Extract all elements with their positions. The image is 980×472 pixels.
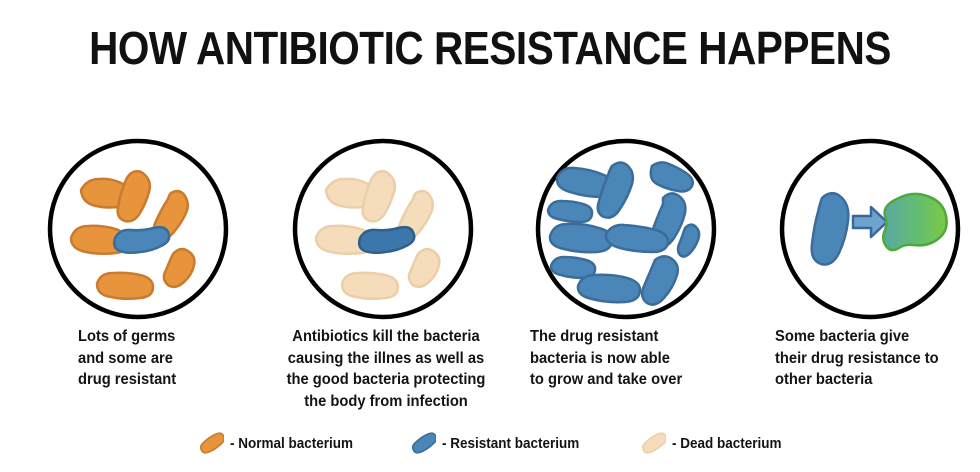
panel-2-caption: Antibiotics kill the bacteria causing th… (278, 326, 495, 412)
legend-item-normal: - Normal bacterium (198, 430, 367, 458)
panel-4-caption: Some bacteria give their drug resistance… (775, 326, 971, 391)
resistant-bacterium-icon (550, 224, 612, 252)
panel-row (0, 136, 980, 326)
panel-1-caption: Lots of germs and some are drug resistan… (78, 326, 268, 391)
resistant-bacterium-icon (410, 432, 436, 456)
panel-3-caption: The drug resistant bacteria is now able … (530, 326, 716, 391)
legend-item-dead: - Dead bacterium (640, 430, 794, 458)
dead-bacterium-icon (640, 432, 666, 456)
legend-item-resistant: - Resistant bacterium (410, 430, 595, 458)
infographic-root: HOW ANTIBIOTIC RESISTANCE HAPPENS (0, 0, 980, 472)
page-title: HOW ANTIBIOTIC RESISTANCE HAPPENS (59, 22, 921, 74)
panel-2-circle (290, 136, 476, 322)
legend: - Normal bacterium - Resistant bacterium… (0, 430, 980, 462)
panel-4-circle (777, 136, 963, 322)
legend-label-dead: - Dead bacterium (672, 435, 782, 453)
normal-bacterium-icon (198, 432, 224, 456)
dead-bacterium-icon (342, 273, 398, 299)
panel-3-circle (533, 136, 719, 322)
resistant-bacterium-icon (548, 201, 592, 222)
resistant-bacterium-icon (578, 275, 640, 302)
caption-row: Lots of germs and some are drug resistan… (0, 326, 980, 410)
legend-label-normal: - Normal bacterium (230, 435, 353, 453)
normal-bacterium-icon (97, 273, 153, 299)
legend-label-resistant: - Resistant bacterium (442, 435, 579, 453)
panel-1-circle (45, 136, 231, 322)
